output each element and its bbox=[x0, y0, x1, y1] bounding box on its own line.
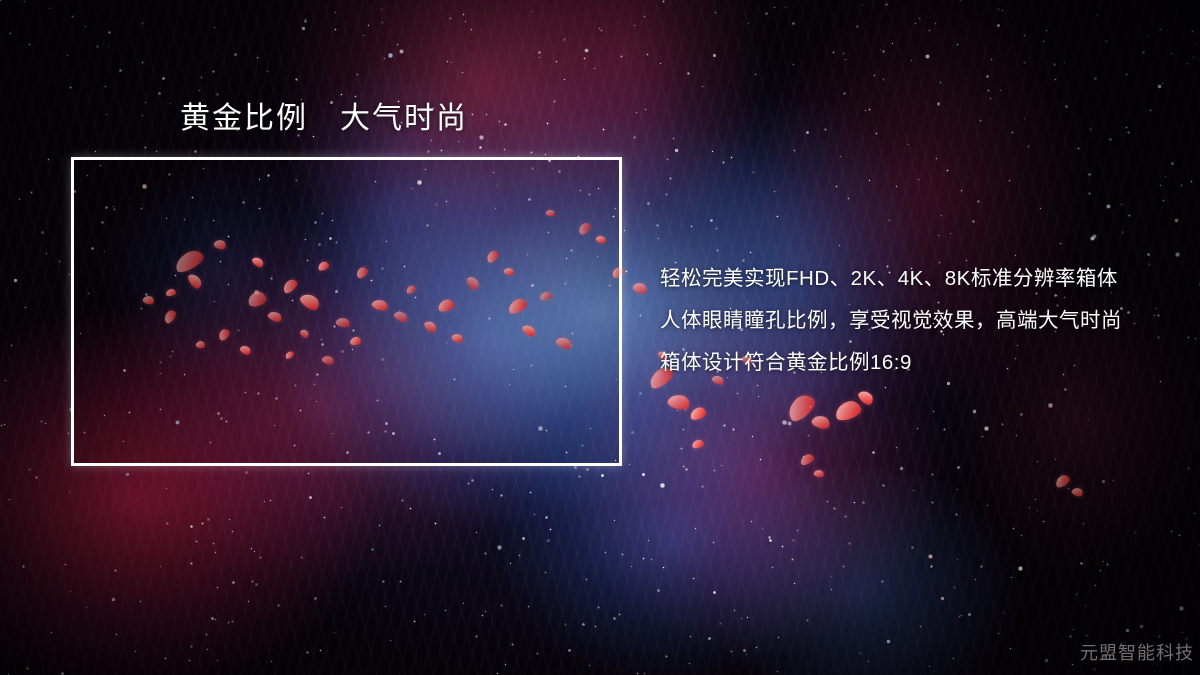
petal bbox=[667, 392, 692, 411]
petal bbox=[632, 281, 649, 296]
petal bbox=[1054, 473, 1072, 489]
petal bbox=[689, 406, 708, 422]
presentation-slide: 黄金比例 大气时尚 轻松完美实现FHD、2K、4K、8K标准分辨率箱体 人体眼睛… bbox=[0, 0, 1200, 675]
watermark-label: 元盟智能科技 bbox=[1080, 639, 1194, 665]
panel-inner-screen bbox=[74, 160, 619, 463]
petal bbox=[813, 469, 824, 478]
body-line-3: 箱体设计符合黄金比例16:9 bbox=[660, 342, 1180, 384]
page-title: 黄金比例 大气时尚 bbox=[180, 101, 468, 137]
petal bbox=[810, 413, 831, 430]
petal bbox=[691, 439, 704, 449]
display-panel-frame bbox=[71, 157, 622, 466]
petal bbox=[799, 452, 815, 466]
petal bbox=[856, 388, 875, 407]
petal bbox=[833, 398, 863, 422]
body-text-block: 轻松完美实现FHD、2K、4K、8K标准分辨率箱体 人体眼睛瞳孔比例，享受视觉效… bbox=[660, 258, 1180, 384]
petal bbox=[1071, 486, 1084, 498]
body-line-1: 轻松完美实现FHD、2K、4K、8K标准分辨率箱体 bbox=[660, 258, 1180, 300]
body-line-2: 人体眼睛瞳孔比例，享受视觉效果，高端大气时尚 bbox=[660, 300, 1180, 342]
